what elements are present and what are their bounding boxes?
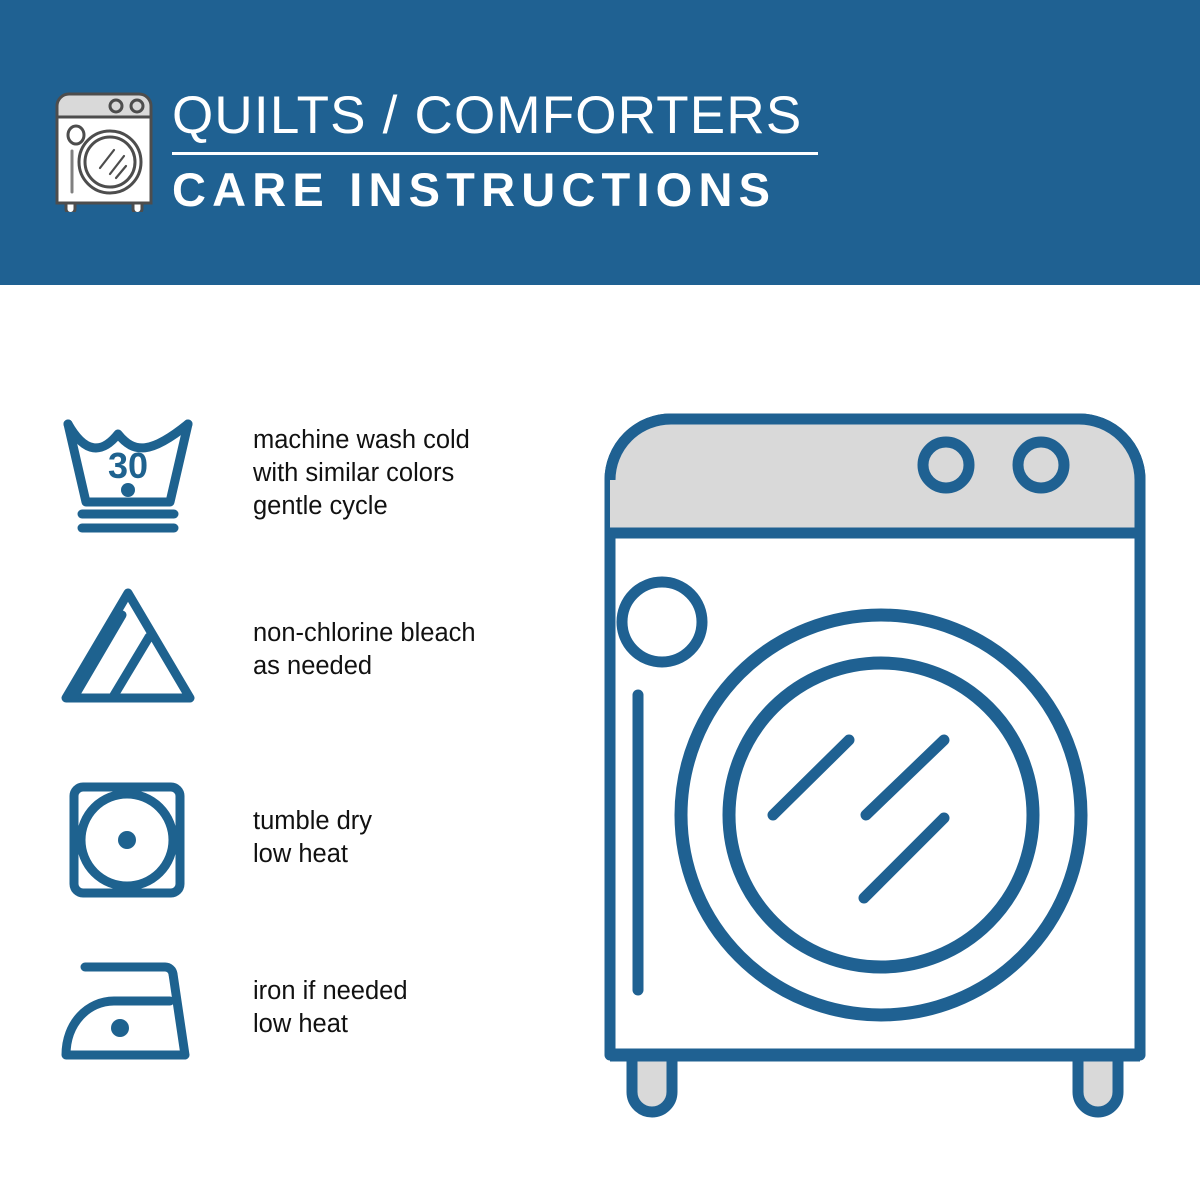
- care-label-line: with similar colors: [253, 457, 533, 490]
- care-label-tumble-dry: tumble dry low heat: [253, 805, 533, 871]
- wash-tub-30-gentle-icon: 30: [52, 410, 204, 540]
- care-row-bleach: non-chlorine bleach as needed: [0, 585, 520, 735]
- care-label-line: machine wash cold: [253, 424, 533, 457]
- tumble-dry-low-heat-icon: [52, 775, 204, 905]
- care-row-iron: iron if needed low heat: [0, 945, 520, 1095]
- care-label-line: low heat: [253, 838, 533, 871]
- care-label-iron: iron if needed low heat: [253, 975, 533, 1041]
- title-divider: [172, 152, 818, 155]
- detergent-indicator: [622, 582, 702, 662]
- page-subtitle: CARE INSTRUCTIONS: [172, 163, 822, 217]
- iron-low-heat-icon: [52, 945, 204, 1075]
- care-label-line: iron if needed: [253, 975, 533, 1008]
- page-title: QUILTS / COMFORTERS: [172, 86, 822, 146]
- front-load-washing-machine-illustration: [596, 405, 1162, 1125]
- care-instructions-infographic: QUILTS / COMFORTERS CARE INSTRUCTIONS: [0, 0, 1200, 1200]
- header-banner: QUILTS / COMFORTERS CARE INSTRUCTIONS: [0, 0, 1200, 285]
- knob-left: [923, 442, 969, 488]
- washing-machine-logo-icon: [48, 82, 160, 212]
- care-row-tumble-dry: tumble dry low heat: [0, 775, 520, 925]
- header-title-block: QUILTS / COMFORTERS CARE INSTRUCTIONS: [172, 86, 822, 217]
- care-label-line: gentle cycle: [253, 490, 533, 523]
- care-label-line: tumble dry: [253, 805, 533, 838]
- care-instruction-list: 30 machine wash cold with similar colors…: [0, 285, 560, 1200]
- machine-feet: [632, 1055, 1118, 1112]
- care-label-wash: machine wash cold with similar colors ge…: [253, 424, 533, 523]
- care-label-bleach: non-chlorine bleach as needed: [253, 617, 533, 683]
- care-label-line: as needed: [253, 650, 533, 683]
- knob-right: [1018, 442, 1064, 488]
- care-label-line: low heat: [253, 1008, 533, 1041]
- triangle-non-chlorine-bleach-icon: [52, 585, 204, 715]
- care-row-wash: 30 machine wash cold with similar colors…: [0, 410, 520, 560]
- care-label-line: non-chlorine bleach: [253, 617, 533, 650]
- wash-temperature-value: 30: [108, 445, 148, 486]
